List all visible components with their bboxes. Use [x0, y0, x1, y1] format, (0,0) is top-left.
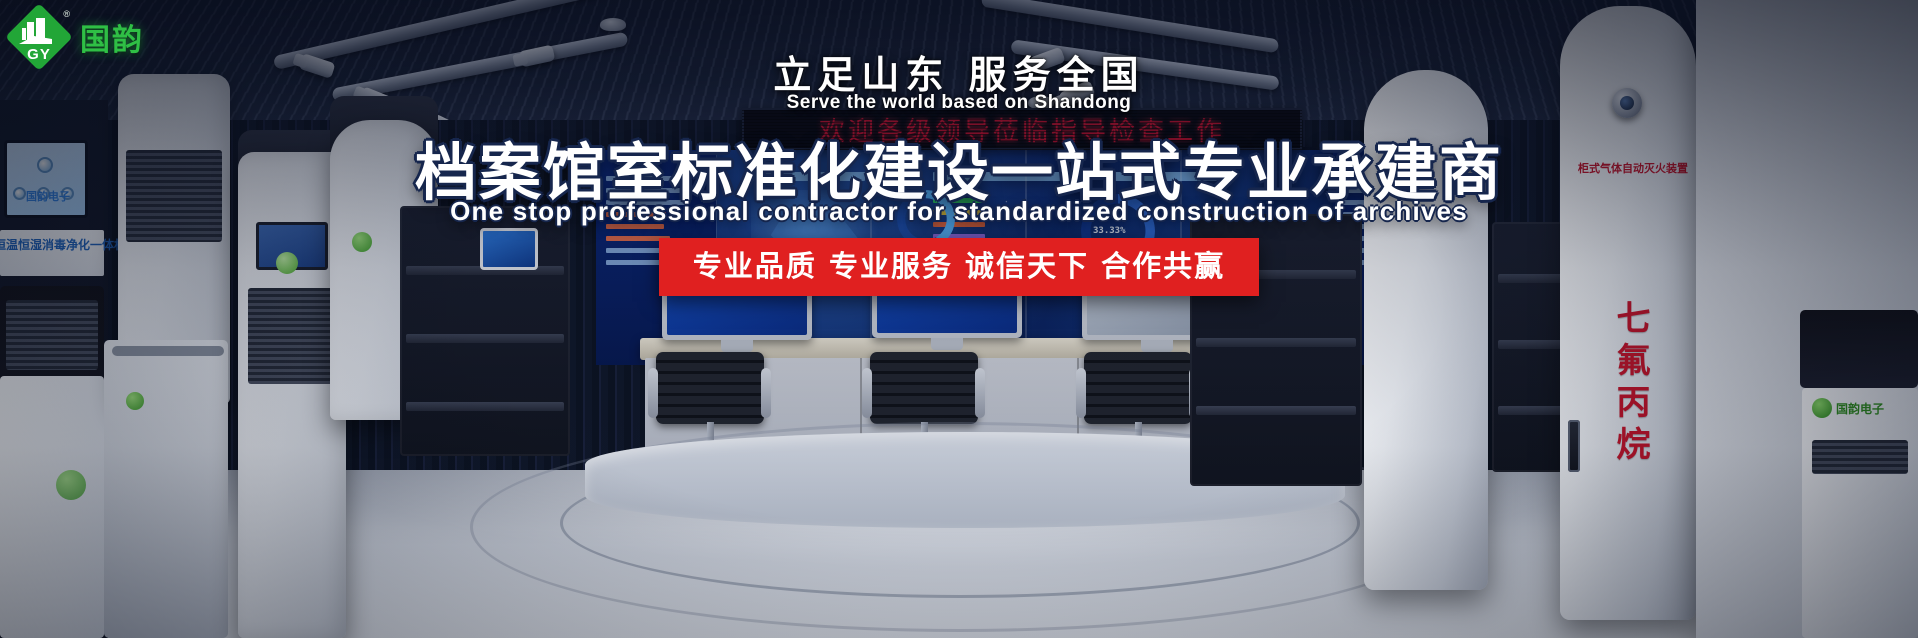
registered-mark-icon: ® [63, 9, 70, 19]
hero-banner: 33.33% 欢迎各级领导莅临指导检查工作 [0, 0, 1918, 638]
hero-subheadline: One stop professional contractor for sta… [0, 196, 1918, 227]
hero-kicker-cn: 立足山东 服务全国 [0, 44, 1918, 99]
hero-cta-button[interactable]: 专业品质 专业服务 诚信天下 合作共赢 [659, 238, 1259, 296]
hero-cta-container: 专业品质 专业服务 诚信天下 合作共赢 [0, 238, 1918, 296]
hero-overlay: GY ® 国韵 立足山东 服务全国 Serve the world based … [0, 0, 1918, 638]
hero-kicker-en: Serve the world based on Shandong [0, 92, 1918, 114]
